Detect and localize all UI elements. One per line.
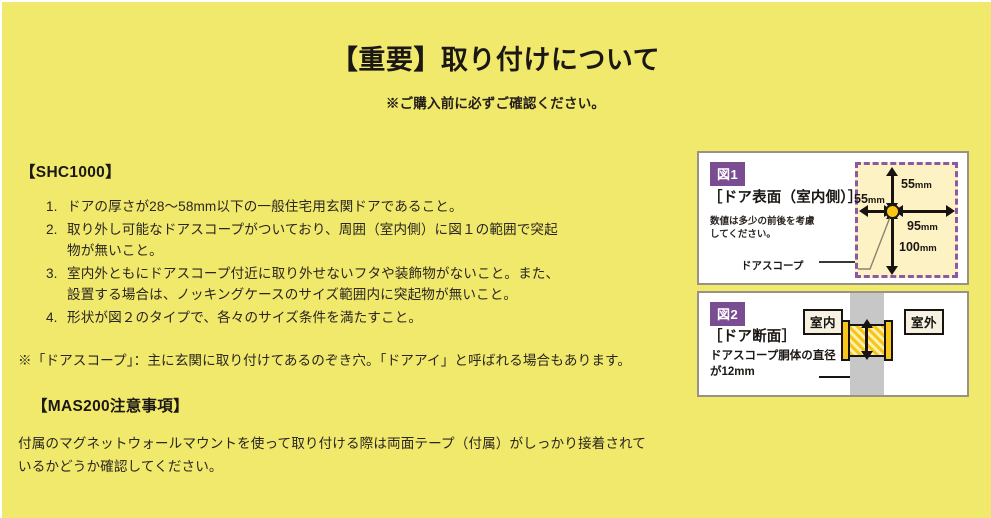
list-item: 2. 取り外し可能なドアスコープがついており、周囲（室内側）に図１の範囲で突起 …: [46, 219, 678, 262]
list-item-text-line2: 物が無いこと。: [67, 240, 678, 262]
diagram-column: 図1 ［ドア表面（室内側）］ 数値は多少の前後を考慮してください。 ドアスコープ: [697, 151, 969, 397]
figure1-dim-top: 55mm: [901, 177, 932, 191]
list-item-number: 1.: [46, 196, 64, 218]
figure2-caption: ［ドア断面］: [708, 325, 796, 346]
figure1-dim-left: 55mm: [854, 192, 885, 206]
list-item-number: 4.: [46, 307, 64, 329]
figure2-panel: 図2 ［ドア断面］ ドアスコープ胴体の直径が12mm 室内 室外: [697, 291, 969, 397]
figure2-diameter-axis: [865, 327, 868, 354]
shc1000-heading: 【SHC1000】: [20, 160, 678, 182]
mas200-heading: 【MAS200注意事項】: [32, 394, 678, 416]
arrow-up-icon: [861, 319, 873, 328]
list-item-text: 室内外ともにドアスコープ付近に取り外せないフタや装飾物がないこと。また、: [67, 266, 559, 281]
shc1000-requirements-list: 1. ドアの厚さが28～58mm以下の一般住宅用玄関ドアであること。 2. 取り…: [46, 196, 678, 328]
figure2-badge: 図2: [710, 302, 745, 326]
figure1-panel: 図1 ［ドア表面（室内側）］ 数値は多少の前後を考慮してください。 ドアスコープ: [697, 151, 969, 285]
figure2-tag-inside: 室内: [803, 309, 843, 335]
list-item: 1. ドアの厚さが28～58mm以下の一般住宅用玄関ドアであること。: [46, 196, 678, 218]
figure1-badge: 図1: [710, 162, 745, 186]
left-content-column: 【SHC1000】 1. ドアの厚さが28～58mm以下の一般住宅用玄関ドアであ…: [18, 160, 678, 478]
figure1-doorscope-dot: [885, 204, 900, 219]
figure2-tag-outside: 室外: [904, 309, 944, 335]
figure2-doorscope-flange-outside: [884, 320, 893, 361]
list-item-text-line2: 設置する場合は、ノッキングケースのサイズ範囲内に突起物が無いこと。: [67, 284, 678, 306]
page-subtitle: ※ご購入前に必ずご確認ください。: [0, 92, 991, 112]
list-item-number: 2.: [46, 219, 64, 241]
list-item-text: 形状が図２のタイプで、各々のサイズ条件を満たすこと。: [67, 310, 422, 325]
figure1-dim-right: 95mm: [907, 219, 938, 233]
figure1-caption: ［ドア表面（室内側）］: [708, 186, 862, 207]
list-item: 3. 室内外ともにドアスコープ付近に取り外せないフタや装飾物がないこと。また、 …: [46, 263, 678, 306]
figure1-dim-bottom: 100mm: [899, 240, 937, 254]
page-title: 【重要】取り付けについて: [0, 44, 991, 78]
figure1-doorscope-label: ドアスコープ: [741, 258, 803, 273]
figure1-leader-line: [819, 261, 857, 263]
figure1-measure-box: 55mm 55mm 95mm 100mm: [855, 162, 958, 278]
figure1-note: 数値は多少の前後を考慮してください。: [710, 215, 820, 241]
mas200-body-text: 付属のマグネットウォールマウントを使って取り付ける際は両面テープ（付属）がしっか…: [18, 432, 658, 478]
doorscope-definition-note: ※「ドアスコープ」：主に玄関に取り付けてあるのぞき穴。「ドアアイ」と呼ばれる場合…: [18, 350, 666, 372]
list-item-text: ドアの厚さが28～58mm以下の一般住宅用玄関ドアであること。: [67, 199, 463, 214]
arrow-down-icon: [861, 351, 873, 360]
list-item: 4. 形状が図２のタイプで、各々のサイズ条件を満たすこと。: [46, 307, 678, 329]
list-item-text: 取り外し可能なドアスコープがついており、周囲（室内側）に図１の範囲で突起: [67, 222, 558, 237]
list-item-number: 3.: [46, 263, 64, 285]
header: 【重要】取り付けについて ※ご購入前に必ずご確認ください。: [0, 44, 991, 112]
